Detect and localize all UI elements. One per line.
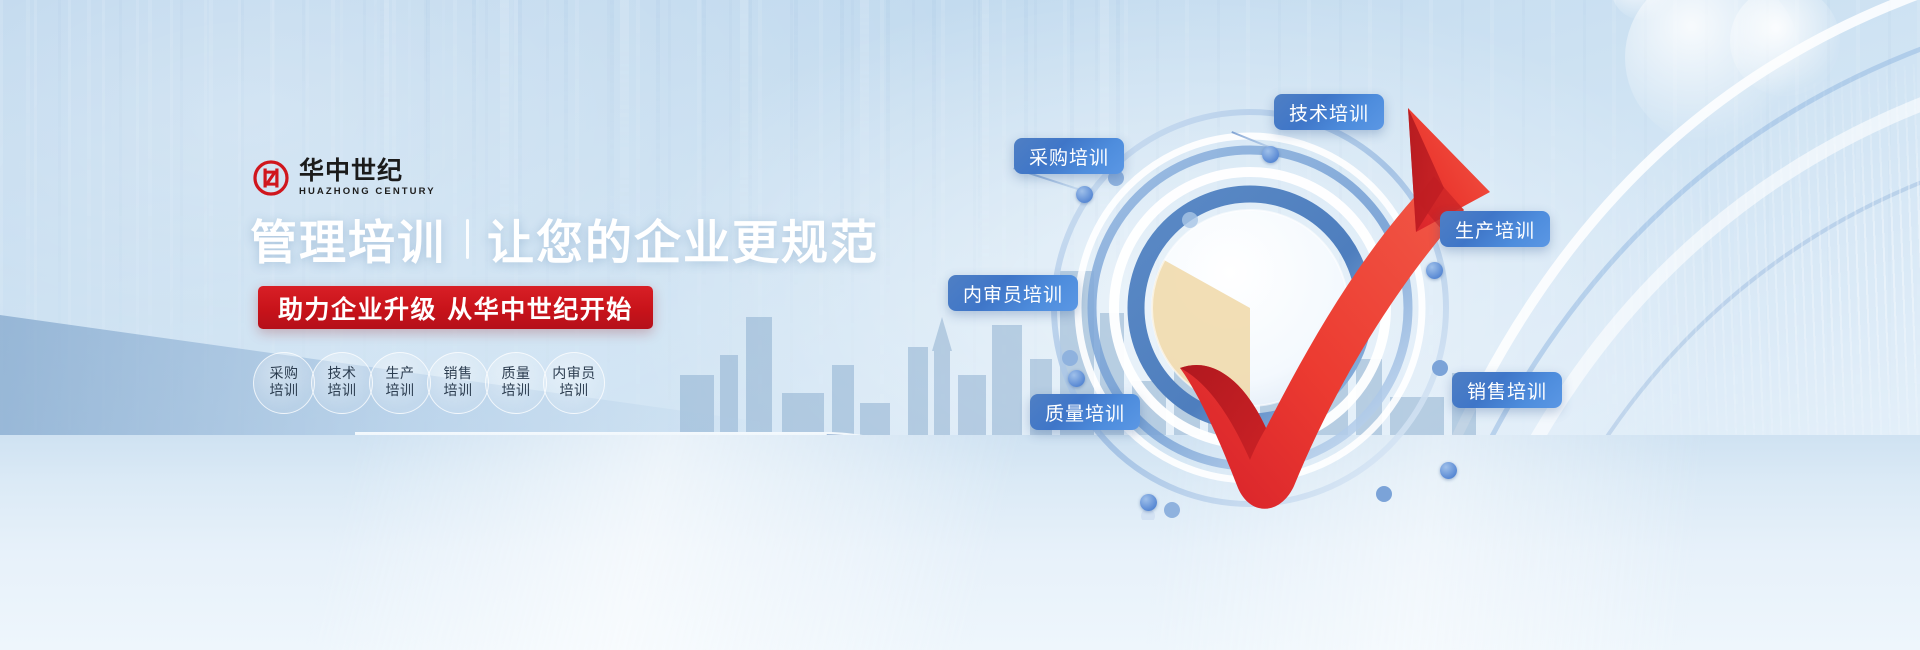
tag-label: 销售培训 <box>1467 377 1547 404</box>
pill-line1: 销售 <box>444 366 473 383</box>
pill-technical-training[interactable]: 技术 培训 <box>311 352 373 414</box>
brand-logo[interactable]: 华中世纪 HUAZHONG CENTURY <box>253 158 436 197</box>
tag-quality-training[interactable]: 质量培训 <box>1030 394 1140 430</box>
pill-line2: 培训 <box>560 383 589 400</box>
pill-line2: 培训 <box>386 383 415 400</box>
tag-dot-2 <box>1262 146 1279 163</box>
headline-left: 管理培训 <box>250 204 446 273</box>
ground-sheen <box>0 435 1920 650</box>
pill-quality-training[interactable]: 质量 培训 <box>485 352 547 414</box>
pill-line1: 质量 <box>502 366 531 383</box>
headline-separator <box>466 219 469 259</box>
tag-dot-4 <box>1068 370 1085 387</box>
tag-dot-3 <box>1426 262 1443 279</box>
tag-label: 生产培训 <box>1455 216 1535 243</box>
promo-badge-text: 助力企业升级 从华中世纪开始 <box>278 290 633 326</box>
promo-badge: 助力企业升级 从华中世纪开始 <box>258 286 653 329</box>
tag-production-training[interactable]: 生产培训 <box>1440 211 1550 247</box>
headline-right: 让您的企业更规范 <box>487 204 879 273</box>
tag-label: 质量培训 <box>1045 399 1125 426</box>
tag-dot-5 <box>1140 494 1157 511</box>
tag-technical-training[interactable]: 技术培训 <box>1274 94 1384 130</box>
pill-line1: 内审员 <box>552 366 596 383</box>
tag-internal-auditor-training[interactable]: 内审员培训 <box>948 275 1078 311</box>
pill-production-training[interactable]: 生产 培训 <box>369 352 431 414</box>
pill-line2: 培训 <box>444 383 473 400</box>
pill-line1: 采购 <box>270 366 299 383</box>
tag-sales-training[interactable]: 销售培训 <box>1452 372 1562 408</box>
tag-dot-1 <box>1076 186 1093 203</box>
brand-name-cn: 华中世纪 <box>299 158 436 184</box>
brand-name-en: HUAZHONG CENTURY <box>299 186 436 197</box>
training-banner: 采购培训 技术培训 生产培训 内审员培训 质量培训 销售培训 华中世纪 HUAZ… <box>0 0 1920 650</box>
pill-procurement-training[interactable]: 采购 培训 <box>253 352 315 414</box>
pill-line2: 培训 <box>328 383 357 400</box>
pill-internal-auditor-training[interactable]: 内审员 培训 <box>543 352 605 414</box>
tag-dot-6 <box>1440 462 1457 479</box>
tag-label: 采购培训 <box>1029 143 1109 170</box>
tag-label: 技术培训 <box>1289 99 1369 126</box>
headline: 管理培训 让您的企业更规范 <box>250 204 879 273</box>
pill-line2: 培训 <box>270 383 299 400</box>
pill-line1: 技术 <box>328 366 357 383</box>
tag-procurement-training[interactable]: 采购培训 <box>1014 138 1124 174</box>
brand-wordmark: 华中世纪 HUAZHONG CENTURY <box>299 158 436 197</box>
pill-sales-training[interactable]: 销售 培训 <box>427 352 489 414</box>
tag-label: 内审员培训 <box>963 280 1063 307</box>
pill-line2: 培训 <box>502 383 531 400</box>
pill-line1: 生产 <box>386 366 415 383</box>
training-pill-list: 采购 培训 技术 培训 生产 培训 销售 培训 质量 培训 内审员 培训 <box>253 352 601 414</box>
huazhong-circle-z-logo-icon <box>253 160 289 196</box>
